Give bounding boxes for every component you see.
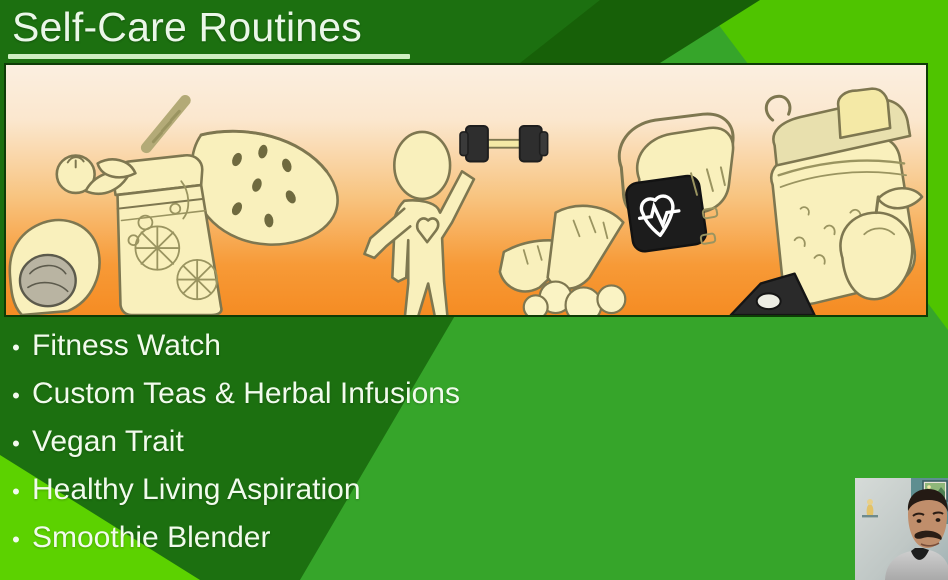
bullet-point-icon: • — [0, 468, 32, 516]
bullet-point-icon: • — [0, 516, 32, 564]
bullet-label: Custom Teas & Herbal Infusions — [32, 370, 460, 418]
banner-illustration — [4, 63, 928, 317]
list-item: • Vegan Trait — [0, 418, 640, 466]
bullet-point-icon: • — [0, 420, 32, 468]
slide-title: Self-Care Routines — [12, 4, 362, 50]
bullet-label: Fitness Watch — [32, 322, 221, 370]
banner-artwork — [6, 65, 926, 315]
bullet-label: Smoothie Blender — [32, 514, 270, 562]
title-band: Self-Care Routines — [0, 0, 948, 63]
eye-left — [917, 519, 922, 523]
list-item: • Fitness Watch — [0, 322, 640, 370]
list-item: • Healthy Living Aspiration — [0, 466, 640, 514]
webcam-overlay[interactable] — [855, 478, 948, 580]
list-item: • Smoothie Blender — [0, 514, 640, 562]
bullet-point-icon: • — [0, 372, 32, 420]
bullet-point-icon: • — [0, 324, 32, 372]
list-item: • Custom Teas & Herbal Infusions — [0, 370, 640, 418]
title-underline-rule — [8, 54, 410, 59]
eye-right — [936, 518, 941, 522]
bullet-list: • Fitness Watch • Custom Teas & Herbal I… — [0, 322, 640, 562]
bullet-label: Vegan Trait — [32, 418, 184, 466]
presentation-slide: Self-Care Routines — [0, 0, 948, 580]
bullet-label: Healthy Living Aspiration — [32, 466, 361, 514]
webcam-video-frame — [855, 478, 948, 580]
